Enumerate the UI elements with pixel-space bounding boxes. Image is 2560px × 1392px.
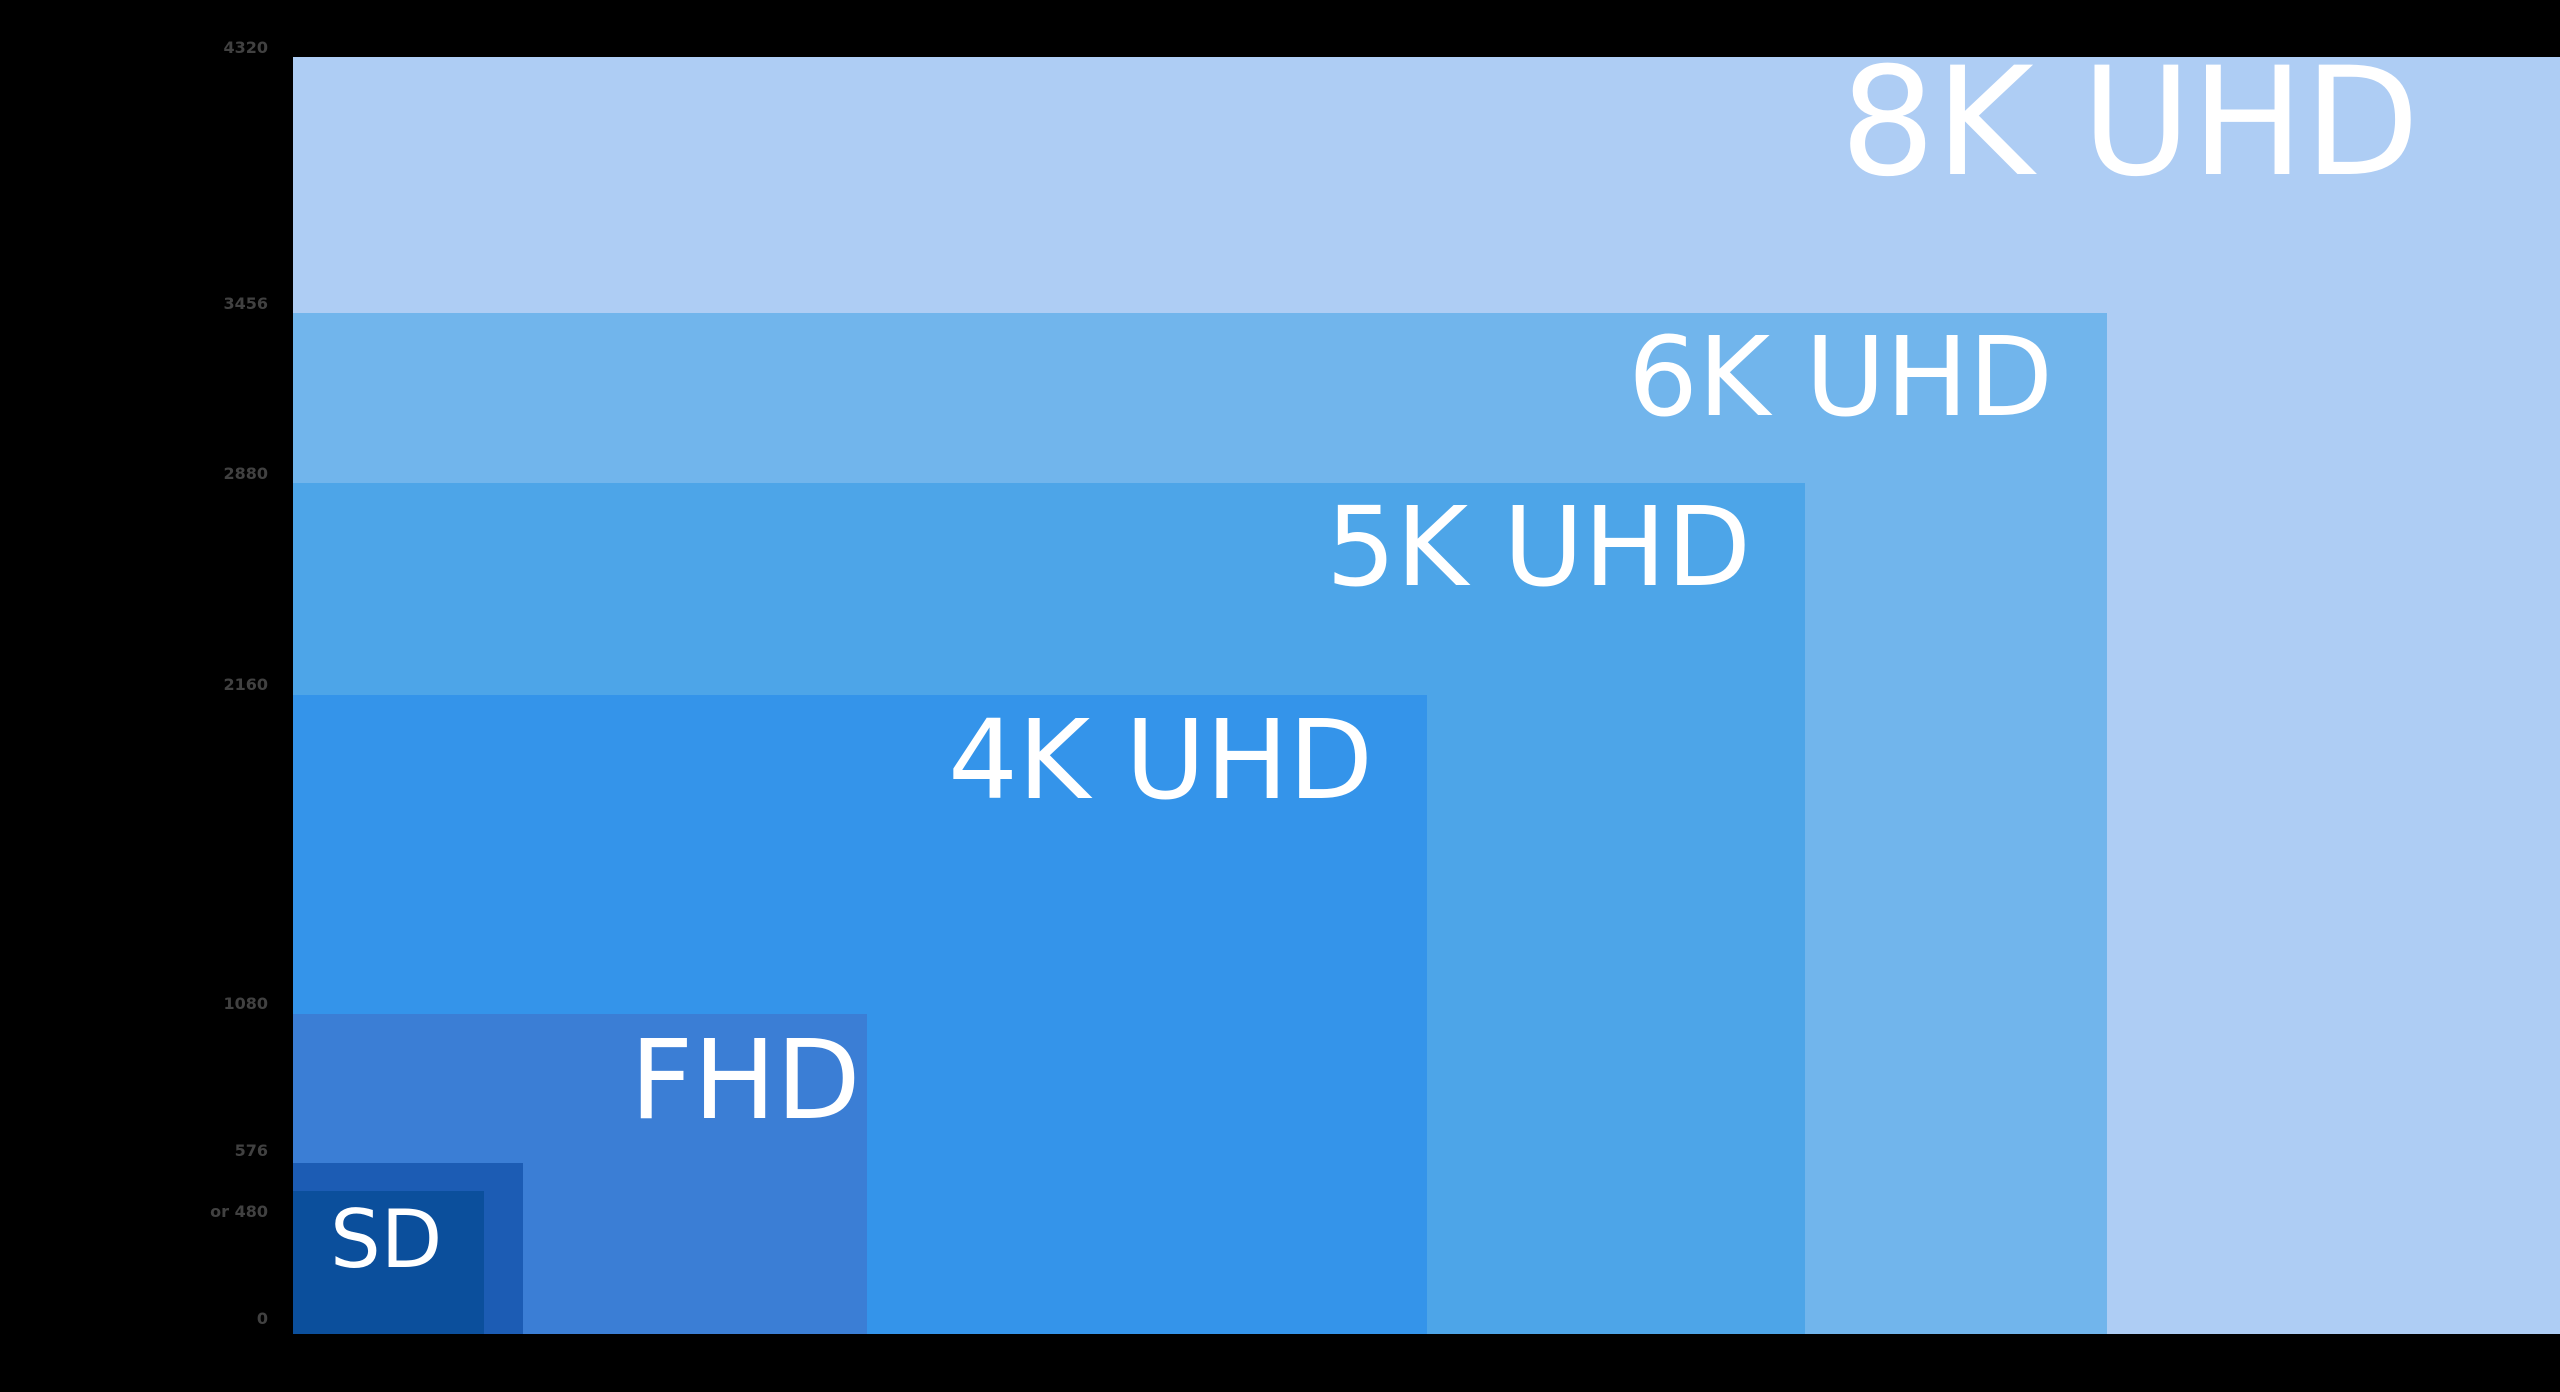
y-axis-tick-1080: 1080 bbox=[223, 996, 268, 1012]
y-axis-tick-4320: 4320 bbox=[223, 40, 268, 56]
y-axis-tick-576: 576 bbox=[235, 1143, 268, 1159]
bar-label-sd: SD bbox=[330, 1200, 442, 1280]
y-axis-tick-2880: 2880 bbox=[223, 466, 268, 482]
bar-label-6k-uhd: 6K UHD bbox=[1628, 322, 2053, 432]
y-axis-tick-2160: 2160 bbox=[223, 677, 268, 693]
bar-label-8k-uhd: 8K UHD bbox=[1840, 48, 2420, 198]
bar-label-5k-uhd: 5K UHD bbox=[1326, 492, 1751, 602]
y-axis-tick-0: 0 bbox=[257, 1311, 268, 1327]
bar-label-4k-uhd: 4K UHD bbox=[948, 705, 1373, 815]
y-axis-tick-480: or 480 bbox=[210, 1204, 268, 1220]
bar-label-fhd: FHD bbox=[630, 1025, 861, 1135]
y-axis-tick-3456: 3456 bbox=[223, 296, 268, 312]
resolution-comparison-chart: 4320 3456 2880 2160 1080 576 or 480 0 8K… bbox=[0, 0, 2560, 1392]
